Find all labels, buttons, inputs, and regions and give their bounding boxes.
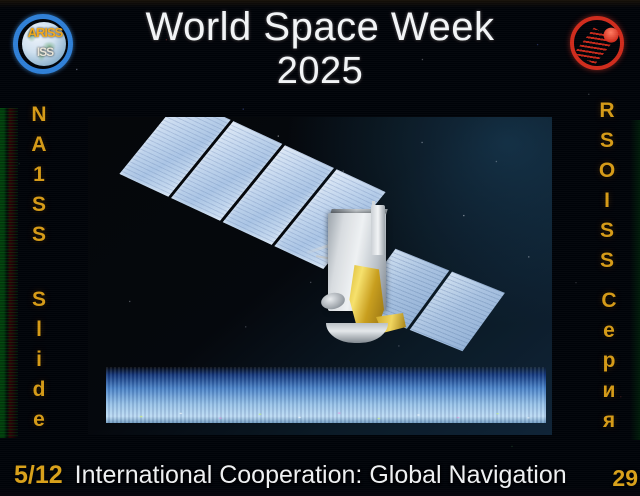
right-callsign-char-5: S xyxy=(592,246,622,276)
page-title: World Space Week 2025 xyxy=(96,4,544,92)
satellite-mast xyxy=(371,205,385,255)
left-callsign-char-2: 1 xyxy=(24,160,54,190)
satellite-photo xyxy=(88,117,552,435)
satellite-skirt xyxy=(326,323,388,343)
left-slide-char-0: S xyxy=(24,285,54,315)
right-edge-artifact xyxy=(630,120,640,440)
left-callsign-char-3: S xyxy=(24,190,54,220)
left-sync-stripe-artifact xyxy=(0,108,18,438)
ariss-logo-text-top: ARISS xyxy=(12,25,78,40)
ariss-logo-text-bottom: ISS xyxy=(12,45,78,59)
caption-number: 29 xyxy=(612,465,638,492)
left-slide-char-3: d xyxy=(24,375,54,405)
slide-index: 5/12 xyxy=(14,461,63,490)
title-line-1: World Space Week xyxy=(96,4,544,50)
right-callsign-char-0: R xyxy=(592,96,622,126)
right-series-char-2: р xyxy=(594,346,624,376)
title-line-2: 2025 xyxy=(96,50,544,92)
right-series-char-3: и xyxy=(594,376,624,406)
right-series-char-1: е xyxy=(594,316,624,346)
earth-limb-noise xyxy=(106,407,546,423)
ariss-logo: ARISS ISS xyxy=(12,13,78,77)
right-callsign-label: RSOISS xyxy=(592,96,622,276)
right-series-char-4: я xyxy=(594,406,624,436)
left-slide-label: Slide xyxy=(24,285,54,435)
left-callsign-char-1: A xyxy=(24,130,54,160)
left-callsign-char-0: N xyxy=(24,100,54,130)
top-edge-artifact xyxy=(0,0,640,8)
right-callsign-char-4: S xyxy=(592,216,622,246)
left-callsign-char-4: S xyxy=(24,220,54,250)
right-callsign-char-1: S xyxy=(592,126,622,156)
bottom-edge-artifact xyxy=(0,486,640,496)
caption-bar: 5/12 International Cooperation: Global N… xyxy=(0,456,640,494)
left-slide-char-1: l xyxy=(24,315,54,345)
right-series-label: Серия xyxy=(594,286,624,436)
right-series-char-0: С xyxy=(594,286,624,316)
sstv-image-frame: ARISS ISS World Space Week 2025 NA1SS Sl… xyxy=(0,0,640,496)
right-callsign-char-2: O xyxy=(592,156,622,186)
rsoiss-logo xyxy=(566,12,630,76)
left-slide-char-2: i xyxy=(24,345,54,375)
caption-text: International Cooperation: Global Naviga… xyxy=(75,461,613,490)
left-callsign-label: NA1SS xyxy=(24,100,54,250)
left-slide-char-4: e xyxy=(24,405,54,435)
right-callsign-char-3: I xyxy=(592,186,622,216)
